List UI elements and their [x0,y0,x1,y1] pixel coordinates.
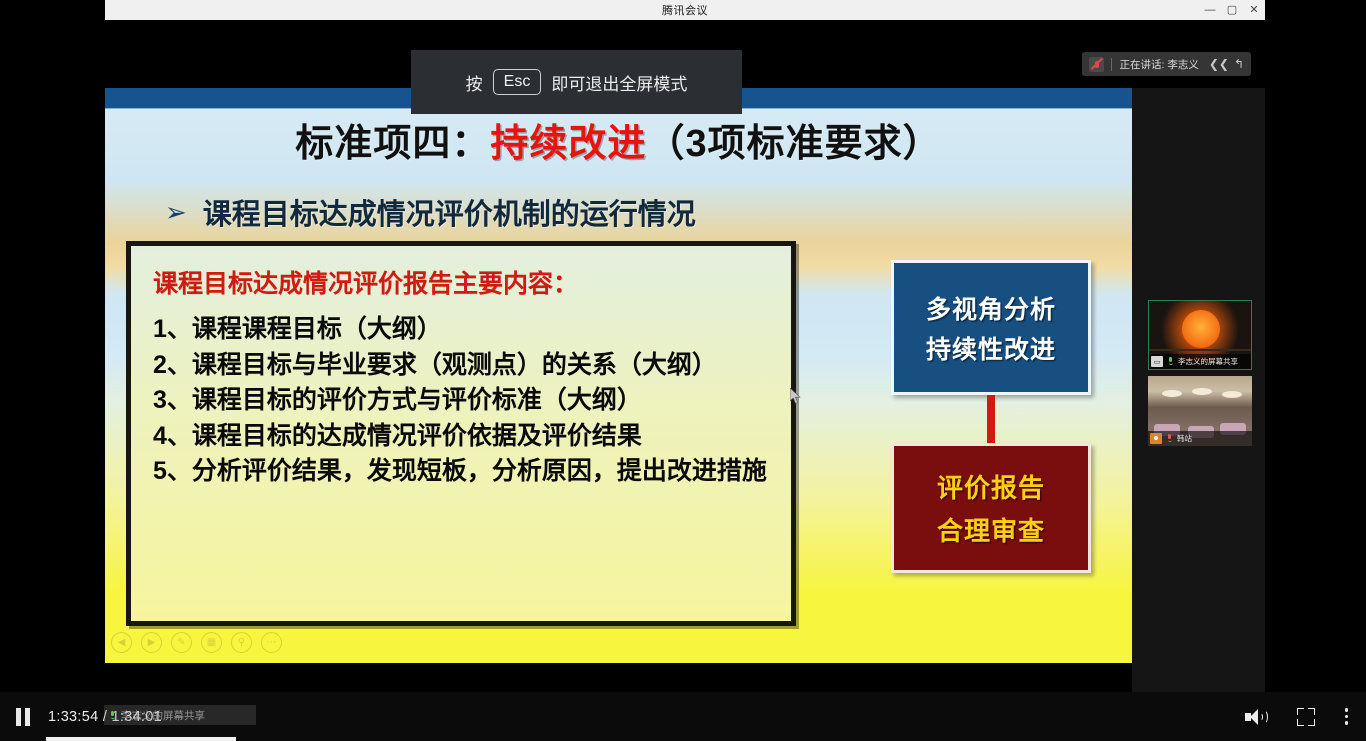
ppt-presenter-toolbar[interactable]: ◀ ▶ ✎ ▦ ⚲ ⋯ [111,632,282,653]
window-title: 腾讯会议 [662,2,708,18]
chip-actions: ❮❮ ↰ [1209,58,1244,70]
sun-shape [1182,310,1220,348]
thumbnail-label: 韩站 [1177,433,1192,444]
hint-suffix: 即可退出全屏模式 [551,70,687,95]
zoom-icon[interactable]: ⚲ [231,632,252,653]
slide-title-lead: 标准项四： [295,123,490,165]
exit-fullscreen-hint: 按 Esc 即可退出全屏模式 [411,50,742,114]
exit-fullscreen-icon[interactable] [1297,708,1315,726]
slide-overview-icon[interactable]: ▦ [201,632,222,653]
slide-title-tail: （3项标准要求） [646,123,941,165]
ceiling-lamp [1222,391,1242,398]
thumbnail-participant[interactable]: ☻ 韩站 [1148,376,1252,446]
back-arrow-icon[interactable]: ↰ [1234,58,1244,70]
thumbnail-screen-share[interactable]: ▭ 李志义的屏幕共享 [1148,300,1252,370]
active-speaker-chip[interactable]: 正在讲话: 李志义 ❮❮ ↰ [1082,52,1251,76]
slide-blue-callout: 多视角分析 持续性改进 [891,260,1091,395]
bottom-progress-sliver [46,737,236,741]
video-player-stage: 腾讯会议 — ▢ ✕ 正在讲话: 李志义 ❮❮ ↰ [0,0,1366,692]
bullet-arrow-icon: ➢ [165,199,187,225]
mic-on-icon [108,710,117,721]
volume-icon[interactable] [1245,708,1267,726]
minimize-icon[interactable]: — [1199,0,1221,20]
screen-share-toast: 李志义的屏幕共享 [104,705,256,725]
window-controls: — ▢ ✕ [1199,0,1265,20]
next-slide-icon[interactable]: ▶ [141,632,162,653]
close-icon[interactable]: ✕ [1243,0,1265,20]
mic-muted-icon [1165,433,1174,444]
screen-root: 腾讯会议 — ▢ ✕ 正在讲话: 李志义 ❮❮ ↰ [0,0,1366,741]
blue-callout-line: 持续性改进 [926,330,1056,366]
maximize-icon[interactable]: ▢ [1221,0,1243,20]
mic-muted-icon [1089,57,1104,72]
thumbnail-label: 李志义的屏幕共享 [1178,356,1238,367]
chevron-collapse-icon[interactable]: ❮❮ [1209,58,1229,70]
content-box-heading: 课程目标达成情况评价报告主要内容： [153,264,781,300]
slide-bottom-band [105,663,1132,692]
slide-subtitle-bullet: ➢ 课程目标达成情况评价机制的运行情况 [165,191,696,233]
content-list-item: 3、课程目标的评价方式与评价标准（大纲） [153,383,781,419]
person-avatar-icon: ☻ [1150,433,1162,444]
letterbox-right [1265,0,1366,692]
slide-title-highlight: 持续改进 [490,123,646,165]
pen-icon[interactable]: ✎ [171,632,192,653]
letterbox-left [0,0,105,692]
content-list-item: 4、课程目标的达成情况评价依据及评价结果 [153,419,781,455]
content-list-item: 5、分析评价结果，发现短板，分析原因，提出改进措施 [153,454,781,490]
active-speaker-label: 正在讲话: 李志义 [1119,57,1198,72]
hint-prefix: 按 [466,70,483,95]
ceiling-lamp [1162,390,1182,397]
more-options-icon[interactable]: ⋯ [261,632,282,653]
toast-label: 李志义的屏幕共享 [121,708,205,723]
participant-thumbnail-rail: ▭ 李志义的屏幕共享 ☻ 韩站 [1132,88,1265,692]
esc-key-cap: Esc [493,69,542,95]
ceiling-lamp [1192,388,1212,395]
prev-slide-icon[interactable]: ◀ [111,632,132,653]
slide-title: 标准项四：持续改进（3项标准要求） [105,112,1132,167]
thumbnail-label-bar: ▭ 李志义的屏幕共享 [1149,354,1251,369]
shared-slide: 标准项四：持续改进（3项标准要求） ➢ 课程目标达成情况评价机制的运行情况 课程… [105,88,1132,663]
mic-on-icon [1166,356,1175,367]
horizon-line [1149,349,1251,351]
kebab-menu-icon[interactable] [1345,708,1349,725]
chip-divider [1111,58,1112,71]
screen-share-icon: ▭ [1151,356,1163,367]
callout-connector [987,395,995,443]
slide-content-box: 课程目标达成情况评价报告主要内容： 1、课程课程目标（大纲） 2、课程目标与毕业… [126,241,796,626]
slide-red-callout: 评价报告 合理审查 [891,443,1091,573]
content-list-item: 2、课程目标与毕业要求（观测点）的关系（大纲） [153,348,781,384]
slide-subtitle-text: 课程目标达成情况评价机制的运行情况 [203,191,696,233]
control-bar-right [1245,708,1366,726]
blue-callout-line: 多视角分析 [926,290,1056,326]
window-titlebar: 腾讯会议 — ▢ ✕ [105,0,1265,20]
red-callout-line: 评价报告 [937,468,1045,505]
current-time: 1:33:54 [48,709,98,725]
pause-icon[interactable] [14,707,32,727]
content-list-item: 1、课程课程目标（大纲） [153,312,781,348]
red-callout-line: 合理审查 [937,511,1045,548]
thumbnail-label-bar: ☻ 韩站 [1148,431,1252,446]
